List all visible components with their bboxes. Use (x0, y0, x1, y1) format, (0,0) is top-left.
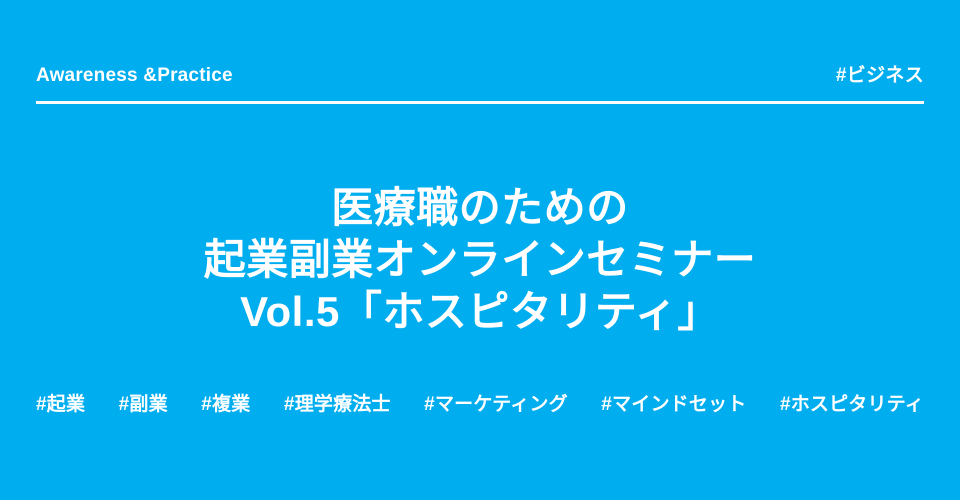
hashtag-item: #ホスピタリティ (780, 394, 924, 417)
header-category-tag: #ビジネス (836, 64, 924, 85)
seminar-banner: Awareness &Practice #ビジネス 医療職のための 起業副業オン… (0, 0, 960, 500)
hashtag-list: #起業 #副業 #複業 #理学療法士 #マーケティング #マインドセット #ホス… (36, 394, 924, 417)
hashtag-item: #複業 (201, 394, 250, 417)
hashtag-item: #マインドセット (601, 394, 746, 417)
brand-title: Awareness &Practice (36, 64, 233, 85)
hashtag-item: #副業 (119, 394, 168, 417)
hashtag-item: #起業 (36, 394, 85, 417)
title-line-2: 起業副業オンラインセミナー (0, 234, 960, 286)
title-line-3: Vol.5「ホスピタリティ」 (0, 286, 960, 338)
hashtag-item: #マーケティング (424, 394, 568, 417)
hashtag-item: #理学療法士 (284, 394, 391, 417)
banner-header: Awareness &Practice #ビジネス (36, 64, 924, 104)
title-line-1: 医療職のための (0, 182, 960, 234)
banner-title: 医療職のための 起業副業オンラインセミナー Vol.5「ホスピタリティ」 (0, 182, 960, 338)
